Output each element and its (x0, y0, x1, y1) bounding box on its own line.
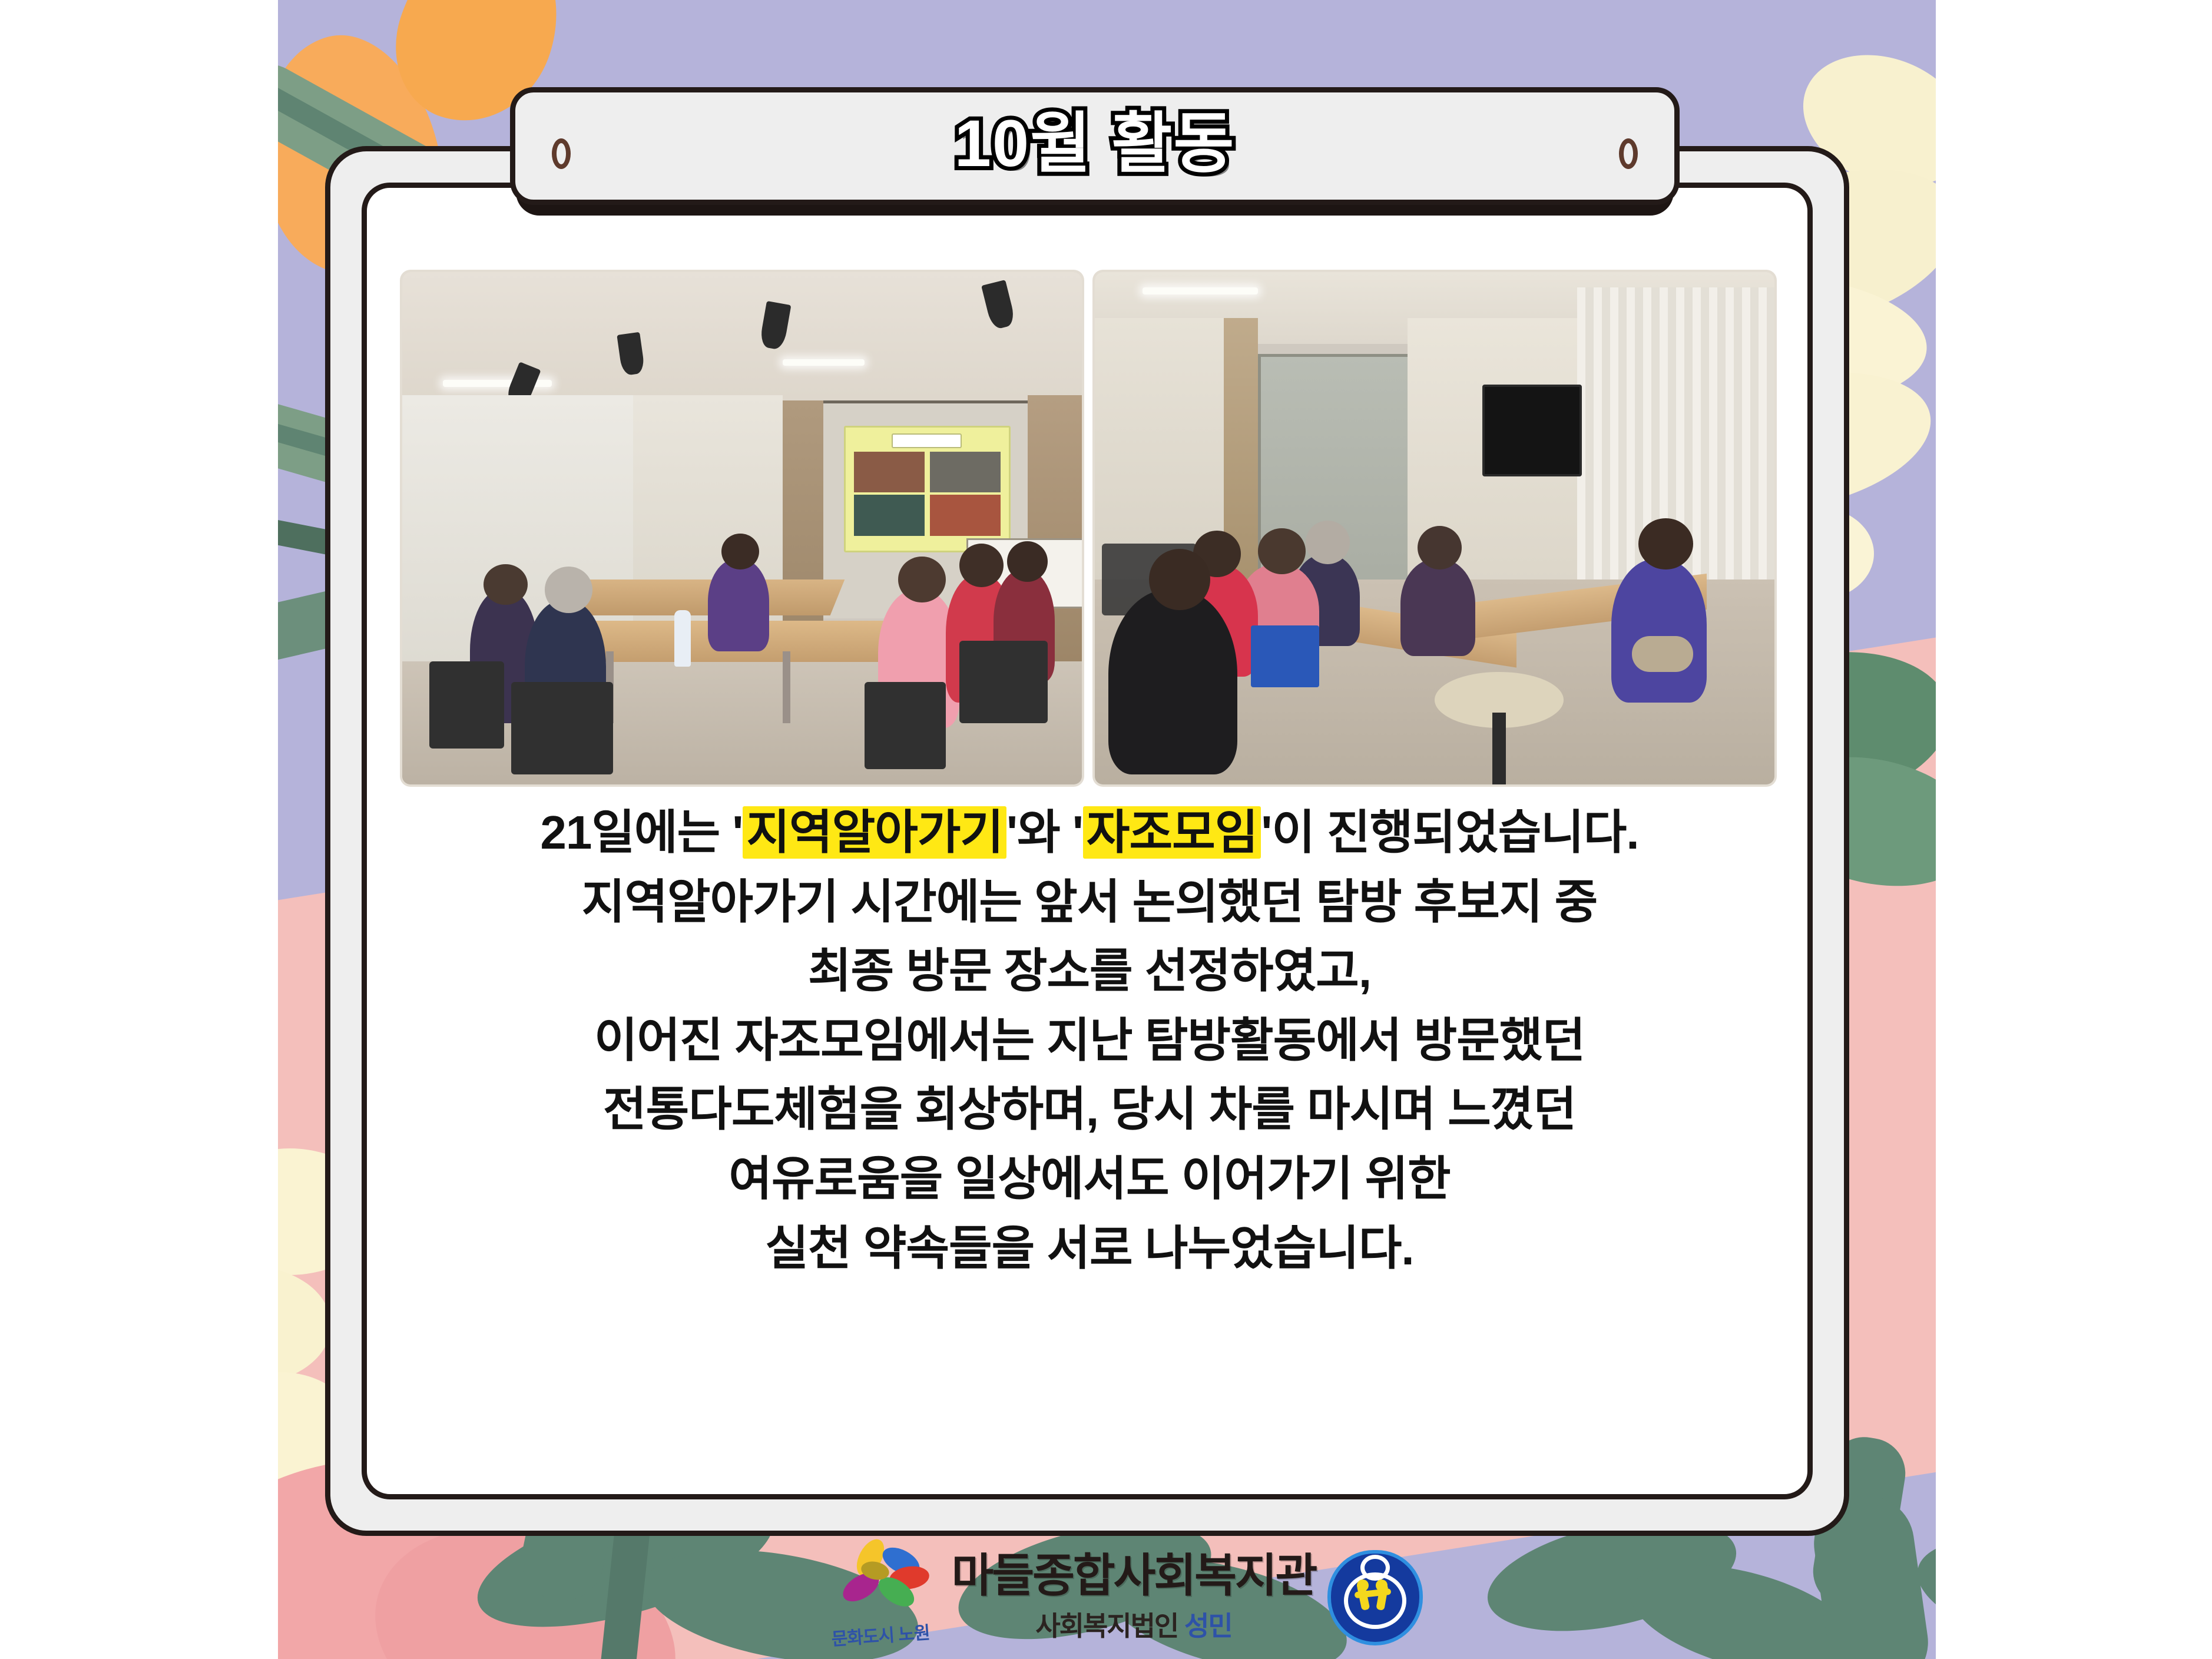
participant-figure (1611, 559, 1707, 703)
organization-subtitle-brand: 성민 (1184, 1611, 1232, 1641)
water-bottle (674, 610, 691, 667)
slide-photo-thumb (930, 452, 1001, 493)
activity-description: 21일에는 '지역알아가기'와 '자조모임'이 진행되었습니다.지역알아가기 시… (389, 798, 1790, 1283)
description-text: '이 진행되었습니다. (1261, 806, 1638, 859)
description-line: 21일에는 '지역알아가기'와 '자조모임'이 진행되었습니다. (389, 798, 1790, 867)
facilitator-head (721, 534, 759, 569)
nowon-city-logo: 문화도시 노원 (824, 1547, 936, 1650)
description-text: 최종 방문 장소를 선정하였고, (808, 945, 1371, 997)
chair (511, 682, 613, 774)
slide-title-box (892, 433, 962, 448)
description-text: 전통다도체험을 회상하며, 당시 차를 마시며 느꼈던 (603, 1083, 1576, 1135)
photo-row (402, 272, 1774, 784)
round-table-leg (1492, 713, 1506, 784)
organization-name: 마들종합사회복지관 (952, 1552, 1316, 1600)
table-leg (783, 651, 790, 723)
participant-head (959, 544, 1004, 587)
poster-root: 10월 활동 (0, 0, 2212, 1659)
description-line: 전통다도체험을 회상하며, 당시 차를 마시며 느꼈던 (389, 1075, 1790, 1144)
foreground-participant-head (1149, 549, 1210, 610)
photo1-wood-panel (783, 400, 823, 657)
organization-name-block: 마들종합사회복지관 사회복지법인 성민 (952, 1552, 1316, 1644)
organization-subtitle-prefix: 사회복지법인 (1035, 1611, 1184, 1641)
chair (959, 641, 1048, 723)
description-text: 실천 약속들을 서로 나누었습니다. (765, 1222, 1413, 1274)
description-line: 최종 방문 장소를 선정하였고, (389, 936, 1790, 1006)
chair (429, 661, 504, 749)
page-title: 10월 활동 (955, 111, 1236, 177)
foreground-participant-figure (1108, 590, 1237, 774)
description-text: 여유로움을 일상에서도 이어가기 위한 (728, 1153, 1450, 1205)
description-line: 이어진 자조모임에서는 지난 탐방활동에서 방문했던 (389, 1006, 1790, 1075)
header-tab-body: 10월 활동 (510, 87, 1680, 205)
slide-photo-thumb (930, 495, 1001, 536)
footer-logos: 문화도시 노원 마들종합사회복지관 사회복지법인 성민 (813, 1542, 1431, 1654)
participant-head (545, 567, 592, 612)
smin-badge-ring-icon (1344, 1572, 1406, 1629)
ceiling-light-icon (783, 359, 864, 366)
chair (865, 682, 946, 769)
description-text: 21일에는 (540, 806, 732, 859)
handbag (1632, 636, 1693, 672)
slide-photo-thumb (854, 495, 925, 536)
description-text: ' (732, 806, 743, 859)
header-tab: 10월 활동 (510, 87, 1680, 214)
description-text: 지역알아가기 시간에는 앞서 논의했던 탐방 후보지 중 (582, 876, 1598, 928)
participant-head (1306, 521, 1350, 564)
punch-hole-left-icon (552, 138, 571, 169)
participant-head (1007, 541, 1048, 582)
tote-bag (1251, 625, 1319, 687)
participant-head (1638, 518, 1693, 569)
organization-subtitle: 사회복지법인 성민 (1035, 1605, 1231, 1644)
description-line: 여유로움을 일상에서도 이어가기 위한 (389, 1144, 1790, 1214)
pinwheel-icon (837, 1547, 926, 1616)
participant-figure (1400, 559, 1475, 656)
nowon-logo-label: 문화도시 노원 (823, 1617, 937, 1651)
description-text: 이어진 자조모임에서는 지난 탐방활동에서 방문했던 (594, 1014, 1585, 1067)
punch-hole-right-icon (1619, 138, 1638, 169)
participant-head (1418, 526, 1462, 569)
meeting-table (558, 580, 845, 615)
smin-foundation-logo (1331, 1554, 1419, 1642)
description-line: 지역알아가기 시간에는 앞서 논의했던 탐방 후보지 중 (389, 867, 1790, 937)
photo-group-selfie (1095, 272, 1774, 784)
description-line: 실천 약속들을 서로 나누었습니다. (389, 1214, 1790, 1283)
photo-activity-lecture (402, 272, 1082, 784)
wall-tv (1482, 385, 1582, 476)
facilitator-figure (708, 559, 769, 651)
highlighted-keyword: 자조모임 (1083, 806, 1261, 859)
participant-head (1258, 528, 1306, 574)
slide-photo-thumb (854, 452, 925, 493)
description-text: '와 ' (1006, 806, 1083, 859)
highlighted-keyword: 지역알아가기 (743, 806, 1006, 859)
participant-head (898, 557, 946, 602)
ceiling-light-icon (1143, 287, 1258, 294)
